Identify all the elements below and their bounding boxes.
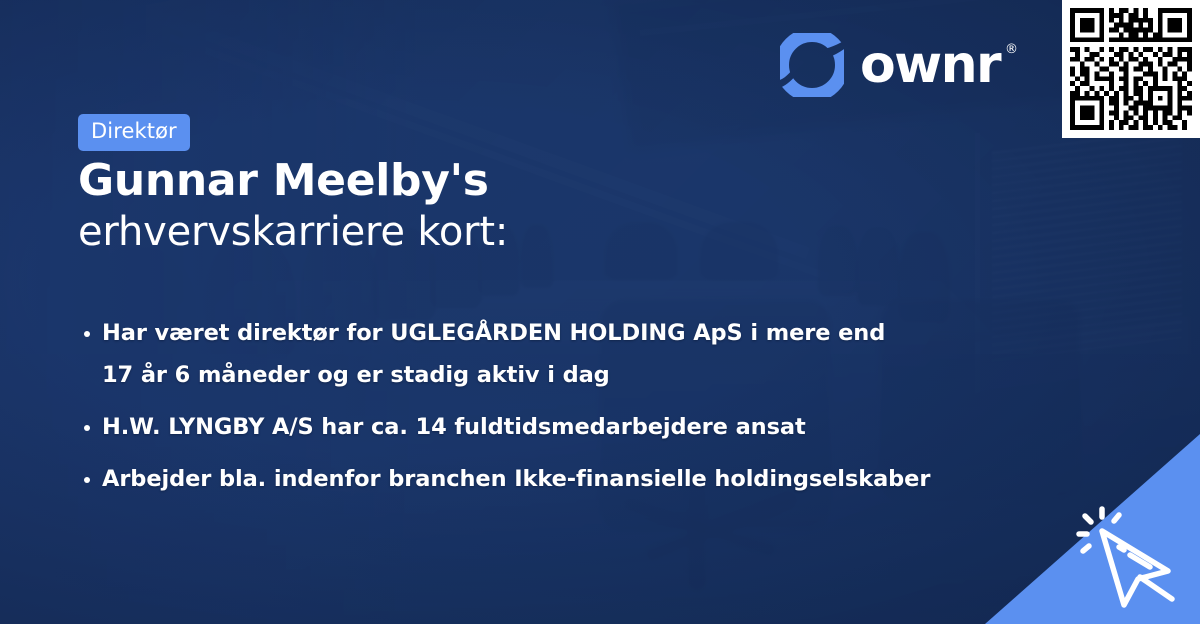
qr-code-icon[interactable] (1062, 0, 1200, 138)
list-item: Arbejder bla. indenfor branchen Ikke-fin… (80, 458, 980, 500)
page-title-subtitle: erhvervskarriere kort: (78, 207, 508, 257)
ownr-wordmark: ownr® (860, 39, 1018, 91)
list-item-line1: H.W. LYNGBY A/S har ca. 14 fuldtidsmedar… (102, 414, 806, 440)
list-item: Har været direktør for UGLEGÅRDEN HOLDIN… (80, 312, 980, 396)
career-highlights-list: Har været direktør for UGLEGÅRDEN HOLDIN… (80, 312, 980, 510)
list-item: H.W. LYNGBY A/S har ca. 14 fuldtidsmedar… (80, 406, 980, 448)
ownr-logo[interactable]: ownr® (780, 33, 1018, 97)
click-cursor-icon (1072, 505, 1182, 610)
page-title-name: Gunnar Meelby's (78, 155, 508, 207)
list-item-line1: Har været direktør for UGLEGÅRDEN HOLDIN… (102, 320, 885, 346)
page-title: Gunnar Meelby's erhvervskarriere kort: (78, 155, 508, 257)
ownr-circle-swoosh-icon (780, 33, 844, 97)
business-profile-card: Direktør Gunnar Meelby's erhvervskarrier… (0, 0, 1200, 624)
list-item-line2: 17 år 6 måneder og er stadig aktiv i dag (102, 354, 980, 396)
role-badge: Direktør (78, 114, 190, 151)
card-content: Direktør Gunnar Meelby's erhvervskarrier… (0, 0, 1200, 624)
ownr-wordmark-text: ownr (860, 35, 1000, 95)
list-item-line1: Arbejder bla. indenfor branchen Ikke-fin… (102, 466, 930, 492)
registered-trademark-icon: ® (1005, 43, 1018, 56)
